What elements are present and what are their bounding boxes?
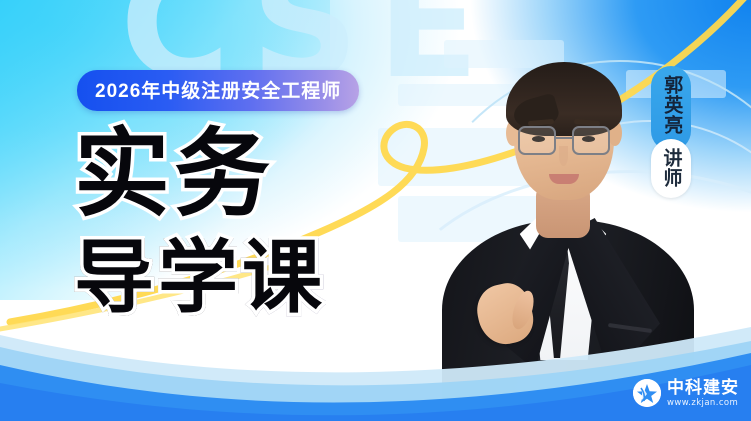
glasses-bridge xyxy=(556,137,572,139)
brand-name: 中科建安 xyxy=(667,379,739,396)
lens-right xyxy=(572,126,610,155)
instructor-badge: 郭英亮 讲师 xyxy=(651,66,691,198)
brand-url: www.zkjan.com xyxy=(667,399,739,408)
star-emblem-icon xyxy=(633,379,661,407)
brand-logo[interactable]: 中科建安 www.zkjan.com xyxy=(633,379,739,408)
course-title-badge[interactable]: 2026年中级注册安全工程师 xyxy=(77,70,359,111)
instructor-role: 讲师 xyxy=(651,139,691,198)
nose xyxy=(559,146,568,166)
hair xyxy=(506,62,622,136)
page-subtitle: 导学课 xyxy=(74,238,326,318)
course-promo-banner: CSE xyxy=(0,0,751,421)
lens-left xyxy=(518,126,556,155)
page-title: 实务 xyxy=(74,127,274,223)
brand-text: 中科建安 www.zkjan.com xyxy=(667,379,739,408)
